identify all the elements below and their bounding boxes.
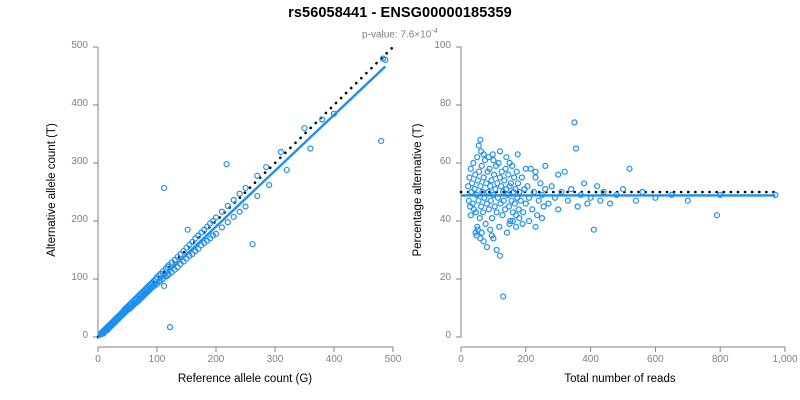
panel-scatter-percentage: 02040608010002004006008001,000 Total num… <box>400 0 800 400</box>
x-axis-title-left: Reference allele count (G) <box>90 373 400 385</box>
y-tick-label: 100 <box>403 40 451 51</box>
x-tick-label: 0 <box>68 354 128 365</box>
x-tick-label: 1,000 <box>755 354 800 365</box>
y-tick-label: 60 <box>403 156 451 167</box>
scatter-plot-right <box>400 0 797 400</box>
y-tick-label: 80 <box>403 98 451 109</box>
x-tick-label: 100 <box>127 354 187 365</box>
x-axis-title-right: Total number of reads <box>450 373 790 385</box>
y-axis-title-left: Alternative allele count (T) <box>46 40 58 340</box>
y-tick-label: 40 <box>403 214 451 225</box>
y-tick-label: 0 <box>403 330 451 341</box>
y-axis-title-right: Percentage alternative (T) <box>412 40 424 340</box>
x-tick-label: 400 <box>561 354 621 365</box>
x-tick-label: 400 <box>304 354 364 365</box>
x-tick-label: 600 <box>625 354 685 365</box>
y-tick-label: 20 <box>403 272 451 283</box>
x-tick-label: 0 <box>431 354 491 365</box>
panel-scatter-counts: 01002003004005000100200300400500 Referen… <box>0 0 400 400</box>
figure-container: rs56058441 - ENSG00000185359 p-value: 7.… <box>0 0 800 400</box>
x-tick-label: 300 <box>245 354 305 365</box>
x-tick-label: 800 <box>690 354 750 365</box>
plot-area-right: 02040608010002004006008001,000 <box>400 0 797 400</box>
x-tick-label: 200 <box>186 354 246 365</box>
plot-area-left: 01002003004005000100200300400500 <box>0 0 405 400</box>
x-tick-label: 200 <box>496 354 556 365</box>
